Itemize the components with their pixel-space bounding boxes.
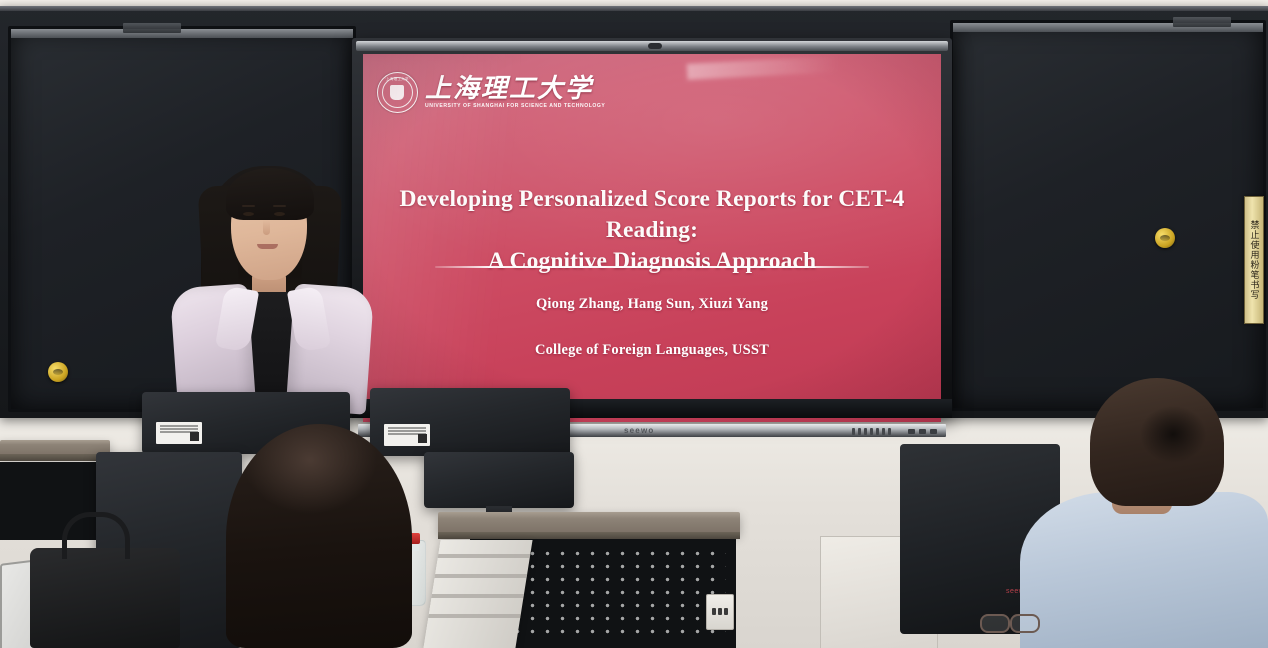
- power-outlet[interactable]: [706, 594, 734, 630]
- monitor-back-center: [370, 388, 570, 456]
- desk-far-left-edge: [0, 454, 110, 461]
- eyeglasses-on-desk: [980, 612, 1050, 632]
- desk-foreground-main-edge: [438, 532, 740, 539]
- audience-head-right: [1090, 378, 1224, 506]
- classroom-presentation-photo: 禁止使用粉笔书写 ·上海理工大学· 上海理工大学 UNIVERSITY OF S…: [0, 0, 1268, 648]
- monitor-mid-center: [424, 452, 574, 508]
- monitor-label-sticker: [384, 424, 430, 446]
- foreground-layer: seewo: [0, 0, 1268, 648]
- audience-body-right: [1020, 492, 1268, 648]
- white-slatted-object: [423, 540, 532, 648]
- bag-handle: [62, 512, 130, 559]
- desk-foreground-main: [438, 512, 740, 534]
- audience-head-foreground-left: [226, 424, 412, 648]
- monitor-label-sticker: [156, 422, 202, 444]
- black-bag: [30, 548, 180, 648]
